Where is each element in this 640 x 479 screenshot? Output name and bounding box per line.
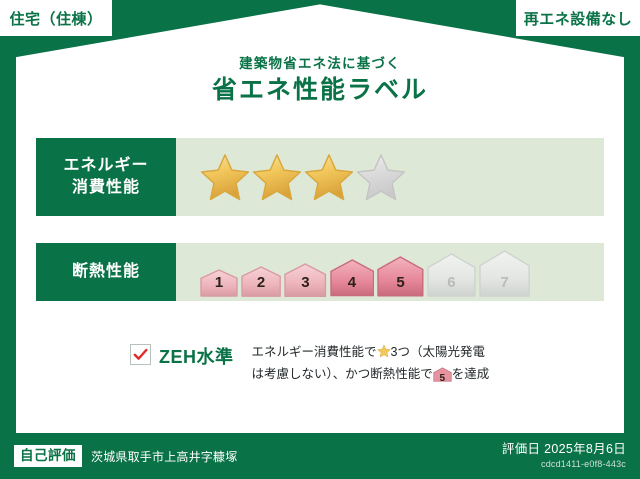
energy-performance-label: 住宅（住棟） 再エネ設備なし 建築物省エネ法に基づく 省エネ性能ラベル エネルギ…	[0, 0, 640, 479]
insulation-performance-row: 断熱性能 1234567	[36, 243, 604, 301]
star-filled-icon	[304, 152, 354, 202]
zeh-desc-text-b: 3つ（太陽光発電	[391, 345, 485, 359]
zeh-description-line2: は考慮しない）、かつ断熱性能で5を達成	[252, 364, 490, 386]
star-icon	[377, 344, 391, 358]
renewable-energy-tag-text: 再エネ設備なし	[524, 8, 633, 29]
star-filled-icon	[200, 152, 250, 202]
property-address: 茨城県取手市上高井字糠塚	[91, 448, 237, 465]
insulation-levels: 1234567	[176, 243, 604, 301]
insulation-level-4: 4	[330, 259, 375, 297]
energy-performance-row: エネルギー 消費性能	[36, 138, 604, 216]
zeh-desc-text-c: は考慮しない）、かつ断熱性能で	[252, 367, 433, 381]
zeh-desc-text-a: エネルギー消費性能で	[252, 345, 377, 359]
energy-performance-label-line2: 消費性能	[72, 177, 140, 199]
title-block: 建築物省エネ法に基づく 省エネ性能ラベル	[0, 56, 640, 106]
zeh-label: ZEH水準	[159, 343, 234, 369]
insulation-level-5: 5	[377, 256, 424, 297]
insulation-level-6: 6	[427, 253, 476, 297]
zeh-checkbox	[130, 344, 151, 365]
insulation-performance-label-box: 断熱性能	[36, 243, 176, 301]
star-filled-icon	[252, 152, 302, 202]
star-rating	[176, 138, 604, 216]
zeh-description-line1: エネルギー消費性能で3つ（太陽光発電	[252, 342, 490, 364]
insulation-house-strip: 1234567	[200, 243, 533, 301]
evaluation-id: cdcd1411-e0f8-443c	[502, 458, 626, 471]
label-subtitle: 建築物省エネ法に基づく	[0, 56, 640, 72]
building-type-tag-text: 住宅（住棟）	[9, 8, 102, 29]
insulation-level-number: 3	[301, 275, 309, 297]
insulation-level-1: 1	[200, 269, 238, 297]
insulation-level-number: 6	[447, 275, 455, 297]
label-title: 省エネ性能ラベル	[0, 75, 640, 106]
footer-right: 評価日 2025年8月6日 cdcd1411-e0f8-443c	[502, 441, 626, 471]
zeh-inline-house-number: 5	[439, 373, 445, 384]
insulation-level-number: 4	[348, 275, 356, 297]
house-icon: 5	[433, 367, 452, 382]
insulation-level-3: 3	[284, 263, 326, 297]
star-empty-icon	[356, 152, 406, 202]
insulation-level-number: 1	[215, 275, 223, 297]
renewable-energy-tag: 再エネ設備なし	[516, 0, 640, 36]
zeh-description: エネルギー消費性能で3つ（太陽光発電 は考慮しない）、かつ断熱性能で5を達成	[252, 342, 490, 386]
self-evaluation-badge: 自己評価	[14, 445, 82, 467]
insulation-level-7: 7	[479, 250, 530, 297]
building-type-tag: 住宅（住棟）	[0, 0, 112, 36]
label-footer: 自己評価 茨城県取手市上高井字糠塚 評価日 2025年8月6日 cdcd1411…	[0, 433, 640, 479]
insulation-level-number: 5	[396, 275, 404, 297]
insulation-level-number: 2	[257, 275, 265, 297]
insulation-performance-label: 断熱性能	[72, 261, 140, 283]
evaluation-date: 評価日 2025年8月6日	[502, 441, 626, 457]
insulation-level-number: 7	[500, 275, 508, 297]
check-icon	[133, 347, 148, 362]
zeh-desc-text-d: を達成	[452, 367, 490, 381]
footer-left: 自己評価 茨城県取手市上高井字糠塚	[14, 445, 237, 467]
energy-performance-label-box: エネルギー 消費性能	[36, 138, 176, 216]
insulation-level-2: 2	[241, 266, 281, 297]
energy-performance-label-line1: エネルギー	[63, 155, 148, 177]
zeh-section: ZEH水準 エネルギー消費性能で3つ（太陽光発電 は考慮しない）、かつ断熱性能で…	[130, 342, 489, 386]
